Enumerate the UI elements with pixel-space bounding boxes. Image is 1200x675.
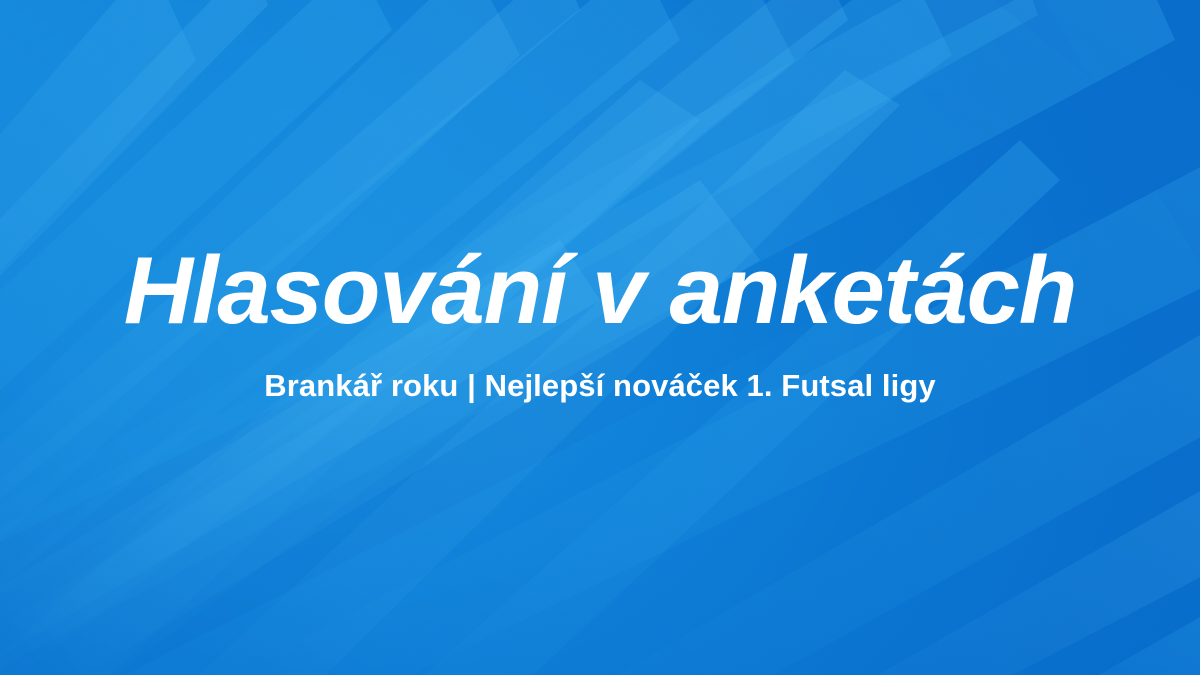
page-title: Hlasování v anketách bbox=[0, 243, 1200, 339]
promo-banner: Hlasování v anketách Brankář roku | Nejl… bbox=[0, 0, 1200, 675]
banner-content: Hlasování v anketách Brankář roku | Nejl… bbox=[0, 0, 1200, 675]
banner-subtitle: Brankář roku | Nejlepší nováček 1. Futsa… bbox=[0, 370, 1200, 401]
